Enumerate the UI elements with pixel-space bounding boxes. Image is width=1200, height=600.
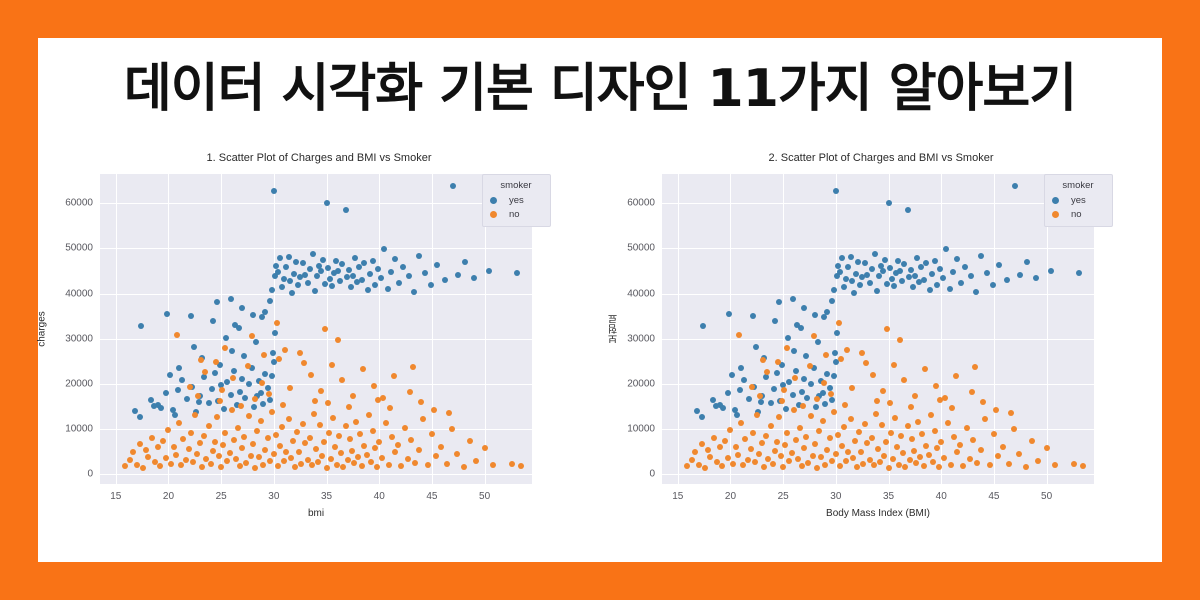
scatter-point-yes bbox=[864, 272, 870, 278]
scatter-point-no bbox=[896, 462, 902, 468]
scatter-point-no bbox=[852, 438, 858, 444]
chart-right-plot-wrap: 보험료 Body Mass Index (BMI) 01000020000300… bbox=[662, 174, 1094, 484]
scatter-point-no bbox=[208, 461, 214, 467]
scatter-point-yes bbox=[375, 266, 381, 272]
scatter-point-no bbox=[856, 429, 862, 435]
scatter-point-no bbox=[449, 426, 455, 432]
scatter-point-yes bbox=[1012, 183, 1018, 189]
scatter-point-no bbox=[1011, 426, 1017, 432]
scatter-point-yes bbox=[259, 314, 265, 320]
scatter-point-no bbox=[1006, 461, 1012, 467]
scatter-point-no bbox=[789, 450, 795, 456]
scatter-point-no bbox=[912, 393, 918, 399]
scatter-point-no bbox=[218, 464, 224, 470]
scatter-point-no bbox=[387, 405, 393, 411]
gridline-vertical bbox=[432, 174, 433, 484]
scatter-point-yes bbox=[151, 403, 157, 409]
scatter-point-no bbox=[280, 402, 286, 408]
scatter-point-yes bbox=[392, 256, 398, 262]
legend-dot-yes-icon bbox=[1052, 197, 1059, 204]
scatter-point-yes bbox=[867, 280, 873, 286]
scatter-point-yes bbox=[862, 260, 868, 266]
scatter-point-yes bbox=[267, 397, 273, 403]
scatter-point-yes bbox=[318, 268, 324, 274]
scatter-point-no bbox=[820, 418, 826, 424]
scatter-point-no bbox=[922, 366, 928, 372]
scatter-point-yes bbox=[768, 400, 774, 406]
scatter-point-no bbox=[980, 399, 986, 405]
gridline-horizontal bbox=[100, 384, 532, 385]
scatter-point-yes bbox=[793, 368, 799, 374]
legend-item-no[interactable]: no bbox=[490, 209, 542, 220]
scatter-point-yes bbox=[302, 272, 308, 278]
scatter-point-yes bbox=[853, 271, 859, 277]
scatter-point-no bbox=[873, 411, 879, 417]
scatter-point-no bbox=[149, 435, 155, 441]
scatter-point-no bbox=[410, 364, 416, 370]
chart-right-legend[interactable]: smoker yes no bbox=[1044, 174, 1113, 227]
legend-label-no: no bbox=[1071, 209, 1082, 220]
scatter-point-yes bbox=[158, 405, 164, 411]
scatter-point-yes bbox=[286, 254, 292, 260]
scatter-point-yes bbox=[996, 262, 1002, 268]
scatter-point-no bbox=[752, 459, 758, 465]
scatter-point-no bbox=[812, 441, 818, 447]
scatter-point-yes bbox=[822, 401, 828, 407]
scatter-point-no bbox=[309, 462, 315, 468]
scatter-point-yes bbox=[958, 280, 964, 286]
scatter-point-no bbox=[938, 439, 944, 445]
scatter-point-yes bbox=[720, 405, 726, 411]
scatter-point-no bbox=[206, 423, 212, 429]
scatter-point-yes bbox=[839, 255, 845, 261]
scatter-point-no bbox=[143, 447, 149, 453]
gridline-horizontal bbox=[100, 248, 532, 249]
scatter-point-yes bbox=[246, 381, 252, 387]
scatter-point-yes bbox=[827, 385, 833, 391]
scatter-point-no bbox=[301, 360, 307, 366]
scatter-point-no bbox=[283, 449, 289, 455]
scatter-point-no bbox=[969, 389, 975, 395]
scatter-point-no bbox=[930, 459, 936, 465]
scatter-point-yes bbox=[327, 276, 333, 282]
y-axis-tick-label: 60000 bbox=[65, 198, 93, 209]
scatter-point-yes bbox=[750, 313, 756, 319]
chart-right-ylabel: 보험료 bbox=[607, 314, 622, 344]
scatter-point-no bbox=[243, 460, 249, 466]
scatter-point-yes bbox=[179, 377, 185, 383]
legend-title: smoker bbox=[1052, 180, 1104, 191]
scatter-point-no bbox=[201, 433, 207, 439]
scatter-point-no bbox=[854, 464, 860, 470]
scatter-point-no bbox=[858, 449, 864, 455]
scatter-point-no bbox=[134, 462, 140, 468]
scatter-point-yes bbox=[167, 372, 173, 378]
scatter-point-no bbox=[942, 395, 948, 401]
scatter-point-no bbox=[898, 433, 904, 439]
scatter-point-yes bbox=[272, 330, 278, 336]
scatter-point-no bbox=[995, 453, 1001, 459]
scatter-point-no bbox=[254, 428, 260, 434]
chart-right-plot-area[interactable] bbox=[662, 174, 1094, 484]
scatter-point-no bbox=[1035, 458, 1041, 464]
scatter-point-no bbox=[248, 453, 254, 459]
scatter-point-no bbox=[1023, 464, 1029, 470]
scatter-point-yes bbox=[196, 399, 202, 405]
scatter-point-no bbox=[220, 442, 226, 448]
scatter-point-no bbox=[702, 465, 708, 471]
scatter-point-no bbox=[738, 420, 744, 426]
scatter-point-no bbox=[772, 448, 778, 454]
scatter-point-yes bbox=[344, 274, 350, 280]
scatter-point-yes bbox=[138, 323, 144, 329]
scatter-point-yes bbox=[455, 272, 461, 278]
scatter-point-no bbox=[888, 430, 894, 436]
scatter-point-yes bbox=[348, 284, 354, 290]
scatter-point-yes bbox=[400, 264, 406, 270]
scatter-point-yes bbox=[253, 339, 259, 345]
scatter-point-no bbox=[960, 463, 966, 469]
scatter-point-no bbox=[392, 449, 398, 455]
scatter-point-yes bbox=[835, 263, 841, 269]
scatter-point-yes bbox=[872, 251, 878, 257]
scatter-point-no bbox=[909, 436, 915, 442]
scatter-point-no bbox=[178, 462, 184, 468]
scatter-point-no bbox=[168, 461, 174, 467]
scatter-point-yes bbox=[813, 404, 819, 410]
scatter-point-yes bbox=[339, 261, 345, 267]
gridline-vertical bbox=[730, 174, 731, 484]
scatter-point-yes bbox=[713, 403, 719, 409]
scatter-point-yes bbox=[910, 284, 916, 290]
scatter-point-no bbox=[859, 350, 865, 356]
y-axis-tick-label: 20000 bbox=[65, 378, 93, 389]
scatter-point-no bbox=[286, 416, 292, 422]
y-axis-tick-label: 50000 bbox=[627, 243, 655, 254]
scatter-point-no bbox=[816, 428, 822, 434]
legend-item-yes[interactable]: yes bbox=[490, 195, 542, 206]
scatter-point-no bbox=[389, 434, 395, 440]
scatter-point-yes bbox=[694, 408, 700, 414]
scatter-point-no bbox=[770, 461, 776, 467]
y-axis-tick-label: 30000 bbox=[627, 333, 655, 344]
scatter-point-no bbox=[259, 380, 265, 386]
scatter-point-no bbox=[325, 400, 331, 406]
scatter-point-no bbox=[197, 440, 203, 446]
scatter-point-yes bbox=[164, 311, 170, 317]
scatter-point-no bbox=[860, 461, 866, 467]
scatter-point-no bbox=[742, 436, 748, 442]
scatter-point-yes bbox=[471, 275, 477, 281]
scatter-point-yes bbox=[729, 372, 735, 378]
scatter-point-yes bbox=[774, 370, 780, 376]
scatter-point-yes bbox=[699, 414, 705, 420]
scatter-point-no bbox=[735, 452, 741, 458]
scatter-point-no bbox=[231, 437, 237, 443]
scatter-point-no bbox=[353, 419, 359, 425]
scatter-point-yes bbox=[829, 397, 835, 403]
scatter-point-yes bbox=[772, 318, 778, 324]
scatter-point-yes bbox=[396, 280, 402, 286]
scatter-point-no bbox=[949, 405, 955, 411]
scatter-point-yes bbox=[428, 282, 434, 288]
scatter-point-yes bbox=[753, 344, 759, 350]
scatter-point-yes bbox=[289, 290, 295, 296]
scatter-point-yes bbox=[388, 269, 394, 275]
scatter-point-yes bbox=[514, 270, 520, 276]
gridline-vertical bbox=[116, 174, 117, 484]
scatter-point-yes bbox=[262, 371, 268, 377]
poster-frame: 데이터 시각화 기본 디자인 11가지 알아보기 1. Scatter Plot… bbox=[0, 0, 1200, 600]
scatter-point-no bbox=[807, 363, 813, 369]
scatter-point-yes bbox=[834, 330, 840, 336]
scatter-point-no bbox=[349, 448, 355, 454]
scatter-point-no bbox=[699, 441, 705, 447]
scatter-point-no bbox=[730, 461, 736, 467]
scatter-point-yes bbox=[848, 254, 854, 260]
legend-item-yes[interactable]: yes bbox=[1052, 195, 1104, 206]
scatter-point-no bbox=[482, 445, 488, 451]
scatter-point-no bbox=[252, 396, 258, 402]
chart-left-plot-wrap: charges bmi 0100002000030000400005000060… bbox=[100, 174, 532, 484]
scatter-point-no bbox=[843, 458, 849, 464]
gridline-horizontal bbox=[662, 248, 1094, 249]
y-axis-tick-label: 50000 bbox=[65, 243, 93, 254]
scatter-point-no bbox=[183, 457, 189, 463]
scatter-point-no bbox=[829, 458, 835, 464]
x-axis-tick-label: 20 bbox=[163, 491, 174, 502]
scatter-point-no bbox=[302, 440, 308, 446]
scatter-point-yes bbox=[831, 373, 837, 379]
scatter-point-no bbox=[917, 454, 923, 460]
scatter-point-no bbox=[224, 458, 230, 464]
scatter-point-no bbox=[230, 375, 236, 381]
scatter-point-no bbox=[282, 347, 288, 353]
x-axis-tick-label: 25 bbox=[778, 491, 789, 502]
chart-right-title: 2. Scatter Plot of Charges and BMI vs Sm… bbox=[600, 152, 1162, 164]
scatter-point-yes bbox=[251, 404, 257, 410]
scatter-point-no bbox=[908, 404, 914, 410]
scatter-point-yes bbox=[880, 268, 886, 274]
gridline-vertical bbox=[994, 174, 995, 484]
chart-left-plot-area[interactable] bbox=[100, 174, 532, 484]
chart-right: 2. Scatter Plot of Charges and BMI vs Sm… bbox=[600, 146, 1162, 562]
scatter-point-no bbox=[837, 463, 843, 469]
scatter-point-no bbox=[308, 372, 314, 378]
scatter-point-yes bbox=[820, 390, 826, 396]
scatter-point-yes bbox=[239, 376, 245, 382]
scatter-point-no bbox=[292, 464, 298, 470]
scatter-point-no bbox=[892, 415, 898, 421]
scatter-point-no bbox=[391, 373, 397, 379]
scatter-point-no bbox=[318, 388, 324, 394]
scatter-point-no bbox=[160, 438, 166, 444]
scatter-point-no bbox=[256, 454, 262, 460]
scatter-point-no bbox=[266, 391, 272, 397]
scatter-point-yes bbox=[829, 298, 835, 304]
scatter-point-no bbox=[803, 434, 809, 440]
scatter-point-yes bbox=[314, 273, 320, 279]
scatter-point-no bbox=[760, 357, 766, 363]
scatter-point-no bbox=[360, 366, 366, 372]
scatter-point-yes bbox=[273, 263, 279, 269]
scatter-point-no bbox=[814, 396, 820, 402]
scatter-point-no bbox=[431, 407, 437, 413]
scatter-point-no bbox=[317, 422, 323, 428]
scatter-point-yes bbox=[889, 276, 895, 282]
scatter-point-yes bbox=[791, 348, 797, 354]
scatter-point-yes bbox=[801, 376, 807, 382]
scatter-point-no bbox=[287, 385, 293, 391]
scatter-point-no bbox=[245, 363, 251, 369]
scatter-point-yes bbox=[851, 290, 857, 296]
scatter-point-yes bbox=[899, 278, 905, 284]
scatter-point-no bbox=[347, 436, 353, 442]
scatter-point-no bbox=[915, 419, 921, 425]
chart-right-xlabel: Body Mass Index (BMI) bbox=[662, 508, 1094, 519]
scatter-point-no bbox=[827, 435, 833, 441]
scatter-point-no bbox=[276, 356, 282, 362]
scatter-point-no bbox=[372, 445, 378, 451]
scatter-point-no bbox=[219, 387, 225, 393]
scatter-point-no bbox=[875, 446, 881, 452]
scatter-point-no bbox=[346, 404, 352, 410]
scatter-point-no bbox=[324, 465, 330, 471]
scatter-point-no bbox=[810, 453, 816, 459]
scatter-point-no bbox=[863, 360, 869, 366]
y-axis-tick-label: 40000 bbox=[627, 288, 655, 299]
scatter-point-no bbox=[438, 444, 444, 450]
scatter-point-yes bbox=[1017, 272, 1023, 278]
scatter-point-yes bbox=[824, 371, 830, 377]
scatter-point-no bbox=[711, 435, 717, 441]
scatter-point-no bbox=[212, 439, 218, 445]
scatter-point-yes bbox=[260, 401, 266, 407]
scatter-point-no bbox=[171, 444, 177, 450]
scatter-point-yes bbox=[324, 200, 330, 206]
scatter-point-yes bbox=[350, 273, 356, 279]
scatter-point-no bbox=[274, 320, 280, 326]
scatter-point-no bbox=[736, 332, 742, 338]
scatter-point-yes bbox=[346, 267, 352, 273]
scatter-point-no bbox=[993, 407, 999, 413]
chart-left-legend[interactable]: smoker yes no bbox=[482, 174, 551, 227]
scatter-point-yes bbox=[990, 282, 996, 288]
scatter-point-yes bbox=[833, 188, 839, 194]
scatter-point-yes bbox=[884, 281, 890, 287]
scatter-point-no bbox=[786, 458, 792, 464]
scatter-point-yes bbox=[886, 200, 892, 206]
y-axis-tick-label: 0 bbox=[649, 469, 655, 480]
scatter-point-no bbox=[190, 459, 196, 465]
scatter-point-yes bbox=[242, 395, 248, 401]
gridline-horizontal bbox=[100, 203, 532, 204]
scatter-point-no bbox=[874, 398, 880, 404]
scatter-point-no bbox=[1008, 410, 1014, 416]
legend-label-yes: yes bbox=[509, 195, 524, 206]
scatter-point-no bbox=[425, 462, 431, 468]
scatter-point-yes bbox=[365, 287, 371, 293]
scatter-point-yes bbox=[310, 251, 316, 257]
scatter-point-no bbox=[836, 320, 842, 326]
scatter-point-yes bbox=[738, 365, 744, 371]
scatter-point-yes bbox=[808, 381, 814, 387]
scatter-point-no bbox=[267, 458, 273, 464]
scatter-point-no bbox=[350, 393, 356, 399]
scatter-point-no bbox=[359, 463, 365, 469]
scatter-point-yes bbox=[269, 373, 275, 379]
scatter-point-no bbox=[887, 400, 893, 406]
scatter-point-no bbox=[919, 431, 925, 437]
scatter-point-yes bbox=[450, 183, 456, 189]
scatter-point-no bbox=[689, 457, 695, 463]
scatter-point-yes bbox=[206, 400, 212, 406]
scatter-point-no bbox=[335, 337, 341, 343]
scatter-point-no bbox=[768, 423, 774, 429]
scatter-point-no bbox=[913, 460, 919, 466]
scatter-point-no bbox=[239, 445, 245, 451]
scatter-point-no bbox=[214, 414, 220, 420]
scatter-point-no bbox=[429, 431, 435, 437]
scatter-point-yes bbox=[228, 392, 234, 398]
gridline-horizontal bbox=[662, 474, 1094, 475]
scatter-point-no bbox=[964, 425, 970, 431]
scatter-point-no bbox=[290, 438, 296, 444]
scatter-point-no bbox=[886, 465, 892, 471]
legend-item-no[interactable]: no bbox=[1052, 209, 1104, 220]
scatter-point-no bbox=[366, 412, 372, 418]
legend-title: smoker bbox=[490, 180, 542, 191]
scatter-point-no bbox=[433, 453, 439, 459]
scatter-point-yes bbox=[876, 273, 882, 279]
y-axis-tick-label: 10000 bbox=[627, 423, 655, 434]
scatter-point-no bbox=[252, 465, 258, 471]
scatter-point-yes bbox=[845, 264, 851, 270]
scatter-point-yes bbox=[746, 396, 752, 402]
scatter-point-yes bbox=[137, 414, 143, 420]
scatter-point-yes bbox=[378, 275, 384, 281]
scatter-point-yes bbox=[343, 207, 349, 213]
scatter-point-no bbox=[376, 439, 382, 445]
scatter-point-no bbox=[311, 411, 317, 417]
scatter-point-yes bbox=[406, 273, 412, 279]
scatter-point-no bbox=[978, 447, 984, 453]
gridline-horizontal bbox=[100, 339, 532, 340]
page-title: 데이터 시각화 기본 디자인 11가지 알아보기 bbox=[38, 46, 1162, 121]
scatter-point-no bbox=[165, 427, 171, 433]
scatter-point-yes bbox=[905, 207, 911, 213]
legend-dot-no-icon bbox=[1052, 211, 1059, 218]
scatter-point-yes bbox=[434, 262, 440, 268]
scatter-point-yes bbox=[895, 258, 901, 264]
y-axis-tick-label: 10000 bbox=[65, 423, 93, 434]
scatter-point-yes bbox=[737, 387, 743, 393]
scatter-point-yes bbox=[422, 270, 428, 276]
scatter-point-yes bbox=[891, 283, 897, 289]
scatter-point-no bbox=[1044, 445, 1050, 451]
scatter-point-no bbox=[490, 462, 496, 468]
chart-left-title: 1. Scatter Plot of Charges and BMI vs Sm… bbox=[38, 152, 600, 164]
scatter-point-no bbox=[987, 462, 993, 468]
scatter-point-yes bbox=[293, 259, 299, 265]
scatter-point-no bbox=[122, 463, 128, 469]
scatter-point-no bbox=[157, 463, 163, 469]
scatter-point-no bbox=[202, 369, 208, 375]
scatter-point-no bbox=[824, 447, 830, 453]
scatter-point-no bbox=[250, 441, 256, 447]
legend-label-yes: yes bbox=[1071, 195, 1086, 206]
scatter-point-no bbox=[368, 459, 374, 465]
